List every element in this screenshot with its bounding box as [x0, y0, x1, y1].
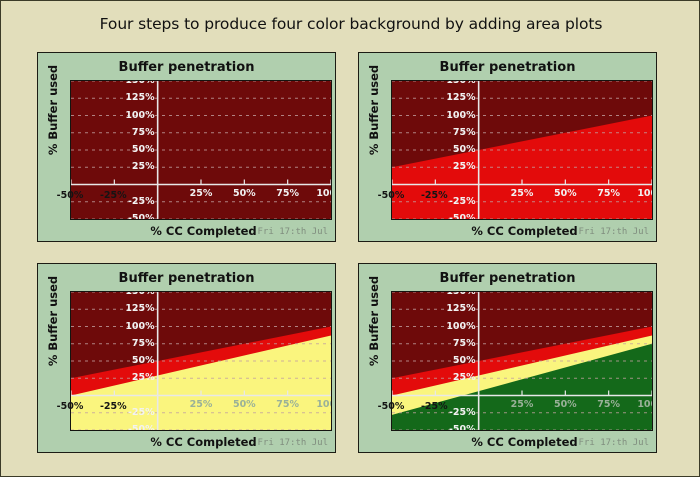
plot-area-3[interactable]: 150%125%100%75%50%25%-25%-50%-50%-25%25%…	[70, 291, 332, 431]
date-stamp: Fri 17:th Jul	[579, 438, 649, 448]
date-stamp: Fri 17:th Jul	[258, 438, 328, 448]
y-axis-label: % Buffer used	[46, 266, 60, 376]
plot-svg	[71, 292, 331, 430]
y-axis-label: % Buffer used	[367, 55, 381, 165]
y-axis-label: % Buffer used	[367, 266, 381, 376]
chart-panel-1[interactable]: Buffer penetration % Buffer used 150%125…	[37, 52, 336, 242]
plot-svg	[392, 81, 652, 219]
panel-title: Buffer penetration	[38, 60, 335, 75]
plot-svg	[71, 81, 331, 219]
panel-title: Buffer penetration	[38, 271, 335, 286]
page-title: Four steps to produce four color backgro…	[1, 15, 700, 33]
plot-area-4[interactable]: 150%125%100%75%50%25%-25%-50%-50%-25%25%…	[391, 291, 653, 431]
date-stamp: Fri 17:th Jul	[258, 227, 328, 237]
panel-title: Buffer penetration	[359, 271, 656, 286]
area-dark-red	[71, 81, 331, 219]
date-stamp: Fri 17:th Jul	[579, 227, 649, 237]
chart-panel-3[interactable]: Buffer penetration % Buffer used 150%125…	[37, 263, 336, 453]
screenshot-root: Four steps to produce four color backgro…	[0, 0, 700, 477]
plot-area-1[interactable]: 150%125%100%75%50%25%-25%-50%-50%-25%25%…	[70, 80, 332, 220]
plot-area-2[interactable]: 150%125%100%75%50%25%-25%-50%-50%-25%25%…	[391, 80, 653, 220]
y-axis-label: % Buffer used	[46, 55, 60, 165]
chart-panel-4[interactable]: Buffer penetration % Buffer used 150%125…	[358, 263, 657, 453]
plot-svg	[392, 292, 652, 430]
chart-panel-2[interactable]: Buffer penetration % Buffer used 150%125…	[358, 52, 657, 242]
panel-title: Buffer penetration	[359, 60, 656, 75]
